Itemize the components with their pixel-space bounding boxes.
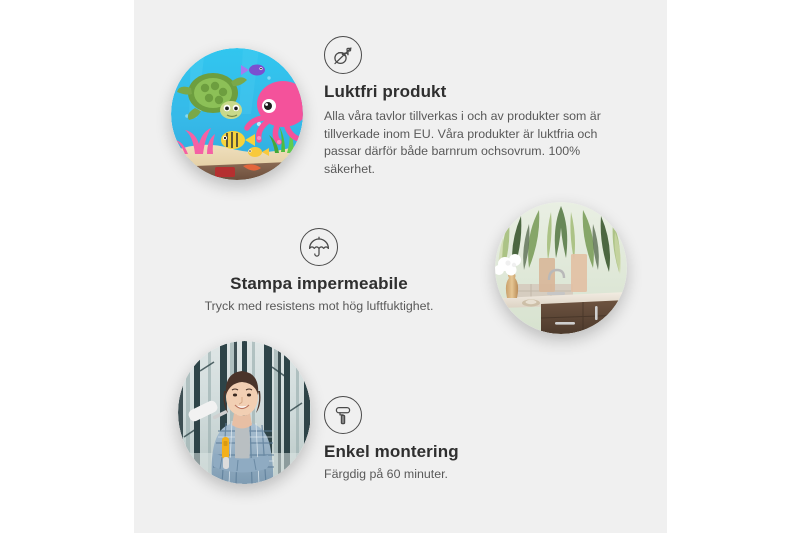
disc-clip — [178, 341, 311, 484]
disc-clip — [171, 48, 303, 180]
disc-clip — [495, 202, 627, 334]
umbrella-icon — [300, 228, 338, 266]
feature-block-waterproof-print: Stampa impermeabile Tryck med resistens … — [154, 228, 484, 316]
feature-block-easy-mounting: Enkel montering Färgdig på 60 minuter. — [324, 396, 624, 484]
no-spray-bottle-glyph — [331, 43, 355, 67]
paint-roller-icon — [324, 396, 362, 434]
banner-canvas: Luktfri produkt Alla våra tavlor tillver… — [134, 0, 667, 533]
feature-image-bathroom-tropical-wallpaper — [495, 202, 627, 334]
umbrella-glyph — [307, 235, 331, 259]
feature-title: Stampa impermeabile — [154, 274, 484, 294]
icon-wrapper — [154, 228, 484, 266]
underwater-scene-illustration — [171, 48, 303, 180]
feature-title: Luktfri produkt — [324, 82, 634, 102]
feature-block-odour-free: Luktfri produkt Alla våra tavlor tillver… — [324, 36, 634, 178]
feature-image-woman-with-paint-roller-forest — [178, 341, 311, 484]
feature-title: Enkel montering — [324, 442, 624, 462]
feature-image-underwater-cartoon-mural — [171, 48, 303, 180]
bathroom-photo-illustration — [495, 202, 627, 334]
product-feature-banner: Luktfri produkt Alla våra tavlor tillver… — [0, 0, 800, 533]
painter-photo-illustration — [178, 341, 311, 484]
paint-roller-glyph — [331, 403, 355, 427]
feature-description: Tryck med resistens mot hög luftfuktighe… — [154, 298, 484, 316]
no-spray-bottle-icon — [324, 36, 362, 74]
feature-description: Färgdig på 60 minuter. — [324, 466, 624, 484]
feature-description: Alla våra tavlor tillverkas i och av pro… — [324, 108, 616, 178]
